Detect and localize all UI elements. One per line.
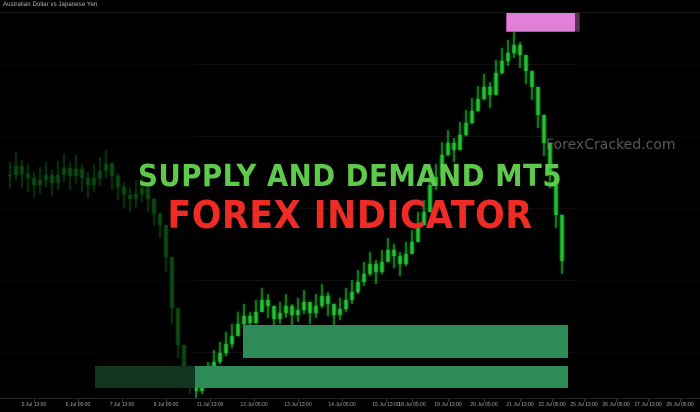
time-axis-label: 26 Jul 05:00 xyxy=(602,401,629,409)
mt5-chart-window[interactable]: Australian Dollar vs Japanese Yen 5 Jul … xyxy=(0,0,700,412)
time-axis-label: 11 Jul 13:00 xyxy=(197,401,224,409)
symbol-header-bar: Australian Dollar vs Japanese Yen xyxy=(0,0,700,13)
time-axis-label: 22 Jul 05:00 xyxy=(538,401,565,409)
time-axis-label: 12 Jul 05:00 xyxy=(240,401,267,409)
chart-plot-area[interactable] xyxy=(0,12,700,398)
time-axis-label: 18 Jul 05:00 xyxy=(398,401,425,409)
time-axis-label: 14 Jul 05:00 xyxy=(328,401,355,409)
demand-zone[interactable] xyxy=(95,366,568,388)
time-axis-label: 15 Jul 13:00 xyxy=(372,401,399,409)
time-axis-label: 28 Jul 05:00 xyxy=(666,401,693,409)
time-axis-label: 27 Jul 13:00 xyxy=(634,401,661,409)
symbol-title: Australian Dollar vs Japanese Yen xyxy=(3,1,97,10)
time-axis-label: 8 Jul 05:00 xyxy=(154,401,178,409)
time-axis-label: 20 Jul 05:00 xyxy=(470,401,497,409)
time-axis-label: 19 Jul 13:00 xyxy=(434,401,461,409)
time-axis-label: 13 Jul 13:00 xyxy=(284,401,311,409)
time-axis-label: 5 Jul 13:00 xyxy=(22,401,46,409)
demand-zone[interactable] xyxy=(243,325,568,358)
time-axis-label: 7 Jul 13:00 xyxy=(110,401,134,409)
time-axis-label: 21 Jul 13:00 xyxy=(506,401,533,409)
time-axis-label: 25 Jul 13:00 xyxy=(570,401,597,409)
time-axis[interactable]: 5 Jul 13:006 Jul 05:007 Jul 13:008 Jul 0… xyxy=(0,398,700,412)
time-axis-label: 6 Jul 05:00 xyxy=(66,401,90,409)
supply-zone[interactable] xyxy=(506,12,580,32)
